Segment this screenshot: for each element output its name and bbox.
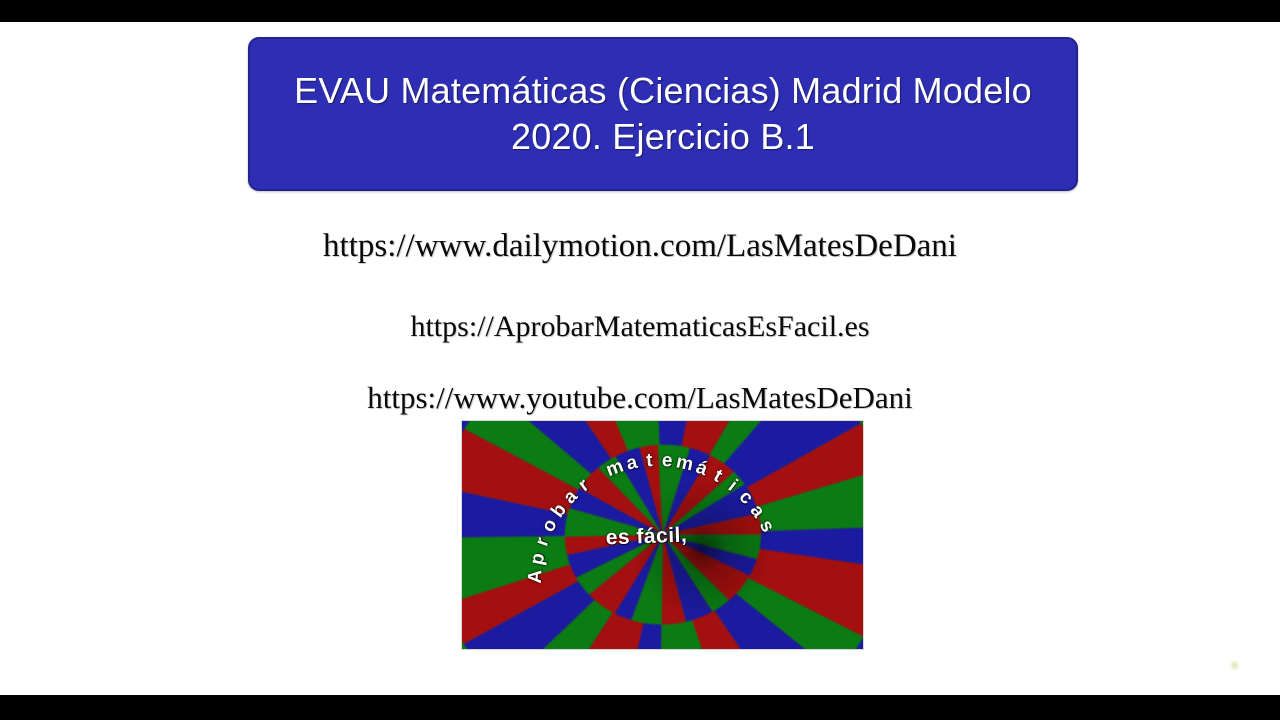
video-frame: EVAU Matemáticas (Ciencias) Madrid Model… xyxy=(0,0,1280,720)
brand-logo-image: Aprobar matemáticas es fácil, si sabes c… xyxy=(461,420,864,650)
logo-caption-bottom-arc: si sabes cómo. xyxy=(462,421,863,649)
page-title: EVAU Matemáticas (Ciencias) Madrid Model… xyxy=(276,68,1050,160)
compression-artifact-dot xyxy=(1231,662,1238,669)
link-website[interactable]: https://AprobarMatematicasEsFacil.es xyxy=(0,310,1280,344)
link-youtube[interactable]: https://www.youtube.com/LasMatesDeDani xyxy=(0,380,1280,416)
letterbox-top xyxy=(0,0,1280,22)
link-dailymotion[interactable]: https://www.dailymotion.com/LasMatesDeDa… xyxy=(0,228,1280,265)
presentation-slide: EVAU Matemáticas (Ciencias) Madrid Model… xyxy=(0,22,1280,695)
letterbox-bottom xyxy=(0,695,1280,720)
title-banner: EVAU Matemáticas (Ciencias) Madrid Model… xyxy=(248,37,1078,191)
